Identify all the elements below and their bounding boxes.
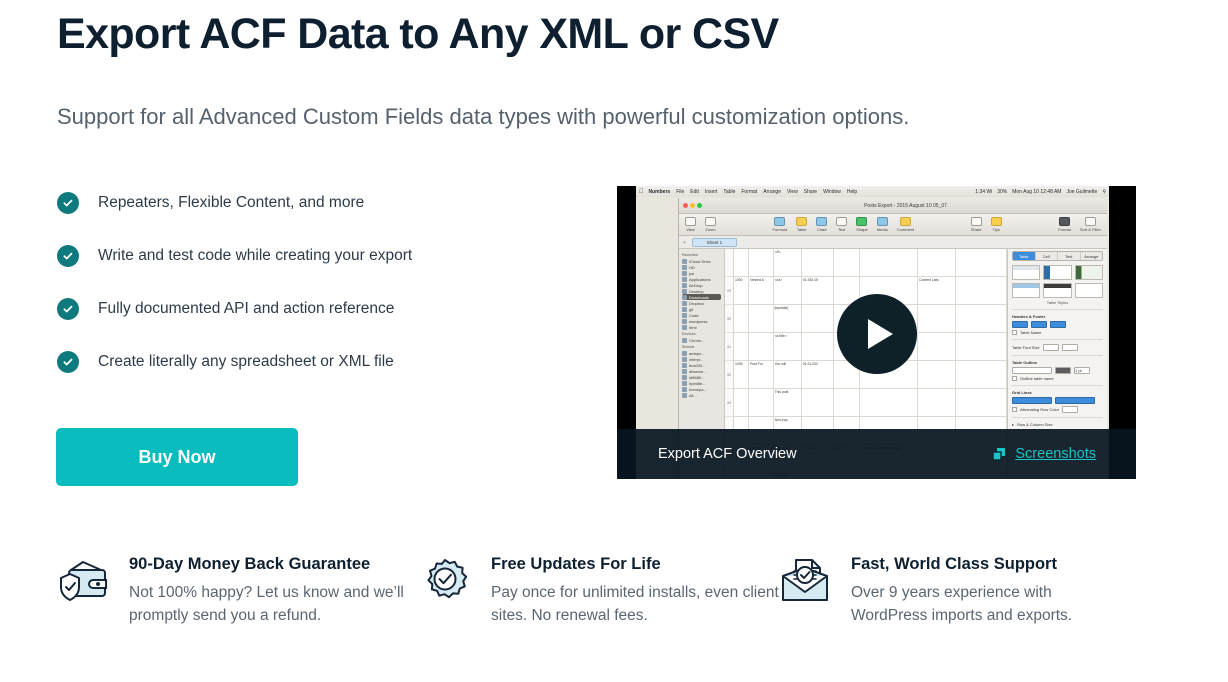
toolbar-view[interactable]: View [685, 217, 696, 232]
toolbar-share[interactable]: Share [971, 217, 982, 232]
toolbar-format-label: Format [1058, 227, 1071, 232]
home-icon [682, 271, 687, 276]
toolbar-format[interactable]: Format [1058, 217, 1071, 232]
benefit-money-back: 90-Day Money Back Guarantee Not 100% hap… [57, 553, 419, 627]
spreadsheet-cell[interactable]: Content Lists [918, 277, 956, 304]
sidebar-item-label: joe [689, 271, 694, 276]
outline-table-name-label: Outline table name [1020, 376, 1054, 381]
folder-icon [682, 319, 687, 324]
spreadsheet-cell[interactable]: 1005 [734, 361, 749, 388]
toolbar-shape-label: Shape [856, 227, 868, 232]
folder-icon [682, 325, 687, 330]
spreadsheet-cell[interactable] [749, 333, 773, 360]
alternating-row-color-label: Alternating Row Color [1020, 407, 1059, 412]
toolbar-zoom-label: Zoom [705, 227, 715, 232]
benefit-text: 90-Day Money Back Guarantee Not 100% hap… [129, 553, 419, 627]
tab-arrange[interactable]: Arrange [1081, 252, 1103, 260]
play-button[interactable] [837, 294, 917, 374]
benefits-row: 90-Day Money Back Guarantee Not 100% hap… [57, 553, 1167, 627]
spreadsheet-cell[interactable] [860, 249, 918, 276]
sheet-tab-bar: + Sheet 1 [679, 236, 1107, 249]
sidebar-item-label: Dropbox [689, 301, 704, 306]
alternating-row-color-swatch[interactable] [1062, 406, 1078, 413]
row-number: 30 [725, 305, 733, 333]
spreadsheet-cell[interactable] [956, 333, 1008, 360]
font-size-increase-button[interactable] [1062, 344, 1078, 351]
checklist-item: Repeaters, Flexible Content, and more [57, 190, 537, 216]
toolbar-comment[interactable]: Comment [897, 217, 914, 232]
minimize-icon[interactable] [690, 203, 695, 208]
server-icon [682, 369, 687, 374]
benefit-description: Over 9 years experience with WordPress i… [851, 581, 1119, 627]
toolbar-share-label: Share [971, 227, 982, 232]
toolbar-media-label: Media [877, 227, 888, 232]
row-number: 29 [725, 277, 733, 305]
spreadsheet-cell[interactable] [734, 305, 749, 332]
sidebar-section-favorites: Favorites [682, 253, 721, 257]
table-style-swatch[interactable] [1012, 265, 1040, 280]
checklist-item: Write and test code while creating your … [57, 243, 537, 269]
text-icon [836, 217, 847, 226]
spreadsheet-cell[interactable]: 01:21:202 [802, 361, 834, 388]
headers-footer-label: Headers & Footer [1012, 314, 1103, 319]
shape-icon [856, 217, 867, 226]
toolbar-zoom[interactable]: Zoom [705, 217, 716, 232]
screenshots-link[interactable]: Screenshots [992, 446, 1096, 462]
checklist-item-label: Create literally any spreadsheet or XML … [98, 353, 394, 371]
checklist-item-label: Write and test code while creating your … [98, 247, 412, 265]
spreadsheet-cell[interactable] [749, 305, 773, 332]
toolbar-tips[interactable]: Tips [991, 217, 1002, 232]
envelope-document-check-icon [779, 553, 837, 613]
sidebar-item-label: homepa... [689, 387, 707, 392]
sidebar-item-label: HD [689, 265, 695, 270]
apple-logo-icon:  [639, 189, 644, 195]
spreadsheet-cell[interactable] [956, 249, 1008, 276]
table-style-swatch[interactable] [1075, 265, 1103, 280]
check-circle-icon [57, 192, 79, 214]
row-number [725, 249, 733, 277]
checklist-item: Create literally any spreadsheet or XML … [57, 349, 537, 375]
table-name-row: Table Name [1012, 330, 1103, 335]
grid-lines-label: Grid Lines [1012, 390, 1103, 395]
spreadsheet-cell[interactable]: Nested A [749, 277, 773, 304]
font-size-decrease-button[interactable] [1043, 344, 1059, 351]
window-title: Posts Export - 2015 August 10 05_07 [708, 203, 1103, 209]
menu-item-insert: Insert [705, 189, 718, 195]
menubar-battery-percent: 30% [997, 189, 1007, 195]
spreadsheet-cell[interactable] [956, 305, 1008, 332]
sidebar-item-label: id5680... [689, 375, 704, 380]
sidebar-item-label: bns000... [689, 363, 705, 368]
tab-table[interactable]: Table [1013, 252, 1036, 260]
toolbar-tips-label: Tips [992, 227, 999, 232]
share-icon [971, 217, 982, 226]
format-icon [1059, 217, 1070, 226]
menu-item-numbers: Numbers [649, 189, 671, 195]
mac-menu-bar:  Numbers File Edit Insert Table Format … [636, 186, 1109, 197]
benefit-description: Pay once for unlimited installs, even cl… [491, 581, 779, 627]
chart-icon [816, 217, 827, 226]
divider [1012, 339, 1103, 340]
server-icon [682, 381, 687, 386]
spreadsheet-cell[interactable] [918, 305, 956, 332]
toolbar-sort-filter[interactable]: Sort & Filter [1080, 217, 1101, 232]
numbers-toolbar: View Zoom Formula Table Chart Text Shape… [679, 214, 1107, 236]
sidebar-item-label: hpedite... [689, 381, 705, 386]
sort-filter-icon [1085, 217, 1096, 226]
outline-style-select[interactable] [1012, 367, 1052, 374]
spreadsheet-cell[interactable]: This post [774, 389, 802, 416]
screenshots-label: Screenshots [1015, 446, 1096, 462]
sidebar-item-html[interactable]: html [682, 324, 721, 330]
airdrop-icon [682, 283, 687, 288]
spreadsheet-cell[interactable] [734, 333, 749, 360]
menubar-clock: Mon Aug 10 12:48 AM [1012, 189, 1061, 195]
divider [1012, 417, 1103, 418]
table-style-swatch[interactable] [1043, 265, 1071, 280]
toolbar-comment-label: Comment [897, 227, 914, 232]
spreadsheet-cell[interactable] [918, 389, 956, 416]
buy-now-button[interactable]: Buy Now [56, 428, 298, 486]
spreadsheet-cell[interactable] [734, 389, 749, 416]
menu-item-share: Share [804, 189, 817, 195]
add-sheet-button[interactable]: + [683, 240, 686, 245]
table-style-grid [1012, 265, 1103, 298]
table-outline-label: Table Outline [1012, 360, 1103, 365]
menu-item-table: Table [723, 189, 735, 195]
divider [1012, 309, 1103, 310]
spreadsheet-cell[interactable] [802, 249, 834, 276]
toolbar-table[interactable]: Table [796, 217, 807, 232]
desktop-icon [682, 289, 687, 294]
server-icon [682, 375, 687, 380]
drive-icon [682, 265, 687, 270]
menu-item-arrange: Arrange [763, 189, 781, 195]
spreadsheet-cell[interactable] [749, 389, 773, 416]
row-column-size-row[interactable]: ▸ Row & Column Size [1012, 422, 1103, 427]
zoom-icon[interactable] [697, 203, 702, 208]
spreadsheet-cell[interactable] [802, 305, 834, 332]
table-styles-caption: Table Styles [1012, 300, 1103, 305]
toolbar-chart[interactable]: Chart [816, 217, 827, 232]
outline-table-name-row: Outline table name [1012, 376, 1103, 381]
table-outline-controls: 1 pt [1012, 367, 1103, 374]
spreadsheet-cell[interactable] [834, 249, 860, 276]
wallet-shield-check-icon [57, 553, 115, 613]
spreadsheet-cell[interactable] [918, 249, 956, 276]
traffic-lights [683, 203, 702, 208]
benefit-free-updates: Free Updates For Life Pay once for unlim… [419, 553, 779, 627]
toolbar-media[interactable]: Media [877, 217, 888, 232]
sidebar-item-label: Downloads [689, 295, 709, 300]
sheet-tab[interactable]: Sheet 1 [692, 238, 738, 247]
spreadsheet-cell[interactable]: [wprddie] [774, 305, 802, 332]
menu-item-format: Format [741, 189, 757, 195]
server-icon [682, 363, 687, 368]
table-font-size-row: Table Font Size [1012, 344, 1103, 351]
tab-text[interactable]: Text [1058, 252, 1081, 260]
menu-item-view: View [787, 189, 798, 195]
benefit-title: Fast, World Class Support [851, 555, 1119, 574]
menubar-status-wifi: 1:34 Wi [975, 189, 992, 195]
chevron-right-icon: ▸ [1012, 422, 1014, 427]
apps-icon [682, 277, 687, 282]
checklist-item-label: Fully documented API and action referenc… [98, 300, 394, 318]
table-font-size-label: Table Font Size [1012, 345, 1040, 350]
table-name-label: Table Name [1020, 330, 1041, 335]
toolbar-text[interactable]: Text [836, 217, 847, 232]
benefit-text: Fast, World Class Support Over 9 years e… [851, 553, 1119, 627]
spreadsheet-cell[interactable] [860, 389, 918, 416]
grid-lines-horizontal-toggle[interactable] [1012, 397, 1052, 404]
menu-item-window: Window [823, 189, 841, 195]
menubar-user-name: Joe Guilmette [1066, 189, 1097, 195]
spreadsheet-cell[interactable] [734, 249, 749, 276]
benefit-description: Not 100% happy? Let us know and we’ll pr… [129, 581, 419, 627]
benefit-title: Free Updates For Life [491, 555, 779, 574]
screenshots-stack-icon [992, 447, 1007, 462]
sidebar-item-label: git [689, 307, 693, 312]
benefit-support: Fast, World Class Support Over 9 years e… [779, 553, 1119, 627]
spreadsheet-row[interactable]: This post [734, 389, 1007, 417]
row-number: 32 [725, 361, 733, 389]
spreadsheet-cell[interactable] [918, 361, 956, 388]
tab-cell[interactable]: Cell [1036, 252, 1059, 260]
server-icon [682, 351, 687, 356]
sidebar-item-label: Code [689, 313, 699, 318]
page-title: Export ACF Data to Any XML or CSV [57, 10, 779, 59]
check-circle-icon [57, 351, 79, 373]
inspector-tabs: Table Cell Text Arrange [1012, 251, 1103, 261]
toolbar-view-label: View [686, 227, 695, 232]
toolbar-formula-label: Formula [773, 227, 788, 232]
outline-width-input[interactable]: 1 pt [1074, 367, 1090, 374]
toolbar-formula[interactable]: Formula [773, 217, 788, 232]
check-circle-icon [57, 298, 79, 320]
toolbar-table-label: Table [797, 227, 807, 232]
table-icon [796, 217, 807, 226]
toolbar-shape[interactable]: Shape [856, 217, 868, 232]
divider [1012, 355, 1103, 356]
close-icon[interactable] [683, 203, 688, 208]
sidebar-item-shared-all[interactable]: All... [682, 392, 721, 398]
toolbar-sort-filter-label: Sort & Filter [1080, 227, 1101, 232]
table-name-checkbox[interactable] [1012, 330, 1017, 335]
checklist-item: Fully documented API and action referenc… [57, 296, 537, 322]
menu-item-help: Help [847, 189, 857, 195]
spreadsheet-cell[interactable]: </ul> [774, 277, 802, 304]
check-circle-icon [57, 245, 79, 267]
media-icon [877, 217, 888, 226]
sidebar-item-label: wordpress [689, 319, 707, 324]
zoom-glyph-icon [705, 217, 716, 226]
downloads-icon [682, 295, 687, 300]
comment-icon [900, 217, 911, 226]
table-style-swatch[interactable] [1043, 283, 1071, 298]
spreadsheet-cell[interactable] [749, 249, 773, 276]
toolbar-chart-label: Chart [817, 227, 827, 232]
sidebar-item-label: ambpo... [689, 351, 705, 356]
tips-icon [991, 217, 1002, 226]
server-icon [682, 357, 687, 362]
server-icon [682, 387, 687, 392]
sidebar-item-label: dbserve... [689, 369, 707, 374]
spreadsheet-cell[interactable] [956, 389, 1008, 416]
spreadsheet-cell[interactable]: 01:333:15 [802, 277, 834, 304]
sidebar-item-label: Desktop [689, 289, 704, 294]
spreadsheet-cell[interactable]: <a title= [774, 333, 802, 360]
spreadsheet-cell[interactable] [956, 277, 1008, 304]
divider [1012, 385, 1103, 386]
table-style-swatch[interactable] [1075, 283, 1103, 298]
spreadsheet-cell[interactable]: You will [774, 361, 802, 388]
spreadsheet-cell[interactable] [802, 389, 834, 416]
window-titlebar: Posts Export - 2015 August 10 05_07 [679, 198, 1107, 214]
device-icon [682, 338, 687, 343]
alternating-row-color-checkbox[interactable] [1012, 407, 1017, 412]
sidebar-section-shared: Shared [682, 345, 721, 349]
row-column-size-label: Row & Column Size [1017, 422, 1053, 427]
sidebar-item-label: All... [689, 393, 697, 398]
menu-item-file: File [676, 189, 684, 195]
header-rows-stepper[interactable] [1012, 321, 1028, 328]
spreadsheet-row[interactable]: </li> [734, 249, 1007, 277]
spotlight-search-icon: ⚲ [1102, 189, 1106, 195]
icloud-icon [682, 259, 687, 264]
formula-icon [774, 217, 785, 226]
toolbar-text-label: Text [838, 227, 845, 232]
header-columns-stepper[interactable] [1031, 321, 1047, 328]
menu-item-edit: Edit [690, 189, 699, 195]
view-icon [685, 217, 696, 226]
video-caption-bar: Export ACF Overview Screenshots [617, 429, 1136, 479]
checklist-item-label: Repeaters, Flexible Content, and more [98, 194, 364, 212]
feature-checklist: Repeaters, Flexible Content, and more Wr… [57, 190, 537, 402]
spreadsheet-cell[interactable] [802, 333, 834, 360]
grid-lines-vertical-toggle[interactable] [1055, 397, 1095, 404]
sidebar-item-device[interactable]: Chrom... [682, 337, 721, 343]
grid-lines-controls [1012, 397, 1103, 404]
landing-page-hero-section: Export ACF Data to Any XML or CSV Suppor… [0, 0, 1228, 682]
spreadsheet-cell[interactable] [956, 361, 1008, 388]
folder-icon [682, 313, 687, 318]
globe-icon [682, 393, 687, 398]
sidebar-item-label: html [689, 325, 697, 330]
row-number: 31 [725, 333, 733, 361]
benefit-title: 90-Day Money Back Guarantee [129, 555, 419, 574]
alternating-row-color-row: Alternating Row Color [1012, 406, 1103, 413]
sidebar-item-label: Applications [689, 277, 711, 282]
dropbox-icon [682, 301, 687, 306]
headers-footer-controls [1012, 321, 1103, 328]
sidebar-item-label: interpr... [689, 357, 703, 362]
folder-icon [682, 307, 687, 312]
row-number: 33 [725, 389, 733, 417]
footer-rows-stepper[interactable] [1050, 321, 1066, 328]
page-subtitle: Support for all Advanced Custom Fields d… [57, 104, 909, 130]
spreadsheet-cell[interactable]: </li> [774, 249, 802, 276]
outline-table-name-checkbox[interactable] [1012, 376, 1017, 381]
sidebar-item-label: iCloud Drive [689, 259, 711, 264]
outline-color-swatch[interactable] [1055, 367, 1071, 374]
spreadsheet-cell[interactable]: Post For [749, 361, 773, 388]
benefit-text: Free Updates For Life Pay once for unlim… [491, 553, 779, 627]
sidebar-item-label: Chrom... [689, 338, 704, 343]
spreadsheet-cell[interactable] [834, 389, 860, 416]
sidebar-section-devices: Devices [682, 332, 721, 336]
table-style-swatch[interactable] [1012, 283, 1040, 298]
spreadsheet-cell[interactable]: 1000 [734, 277, 749, 304]
play-icon [868, 319, 893, 349]
spreadsheet-cell[interactable] [918, 333, 956, 360]
gear-check-icon [419, 553, 477, 613]
sidebar-item-label: AirDrop [689, 283, 703, 288]
video-title: Export ACF Overview [658, 446, 797, 462]
